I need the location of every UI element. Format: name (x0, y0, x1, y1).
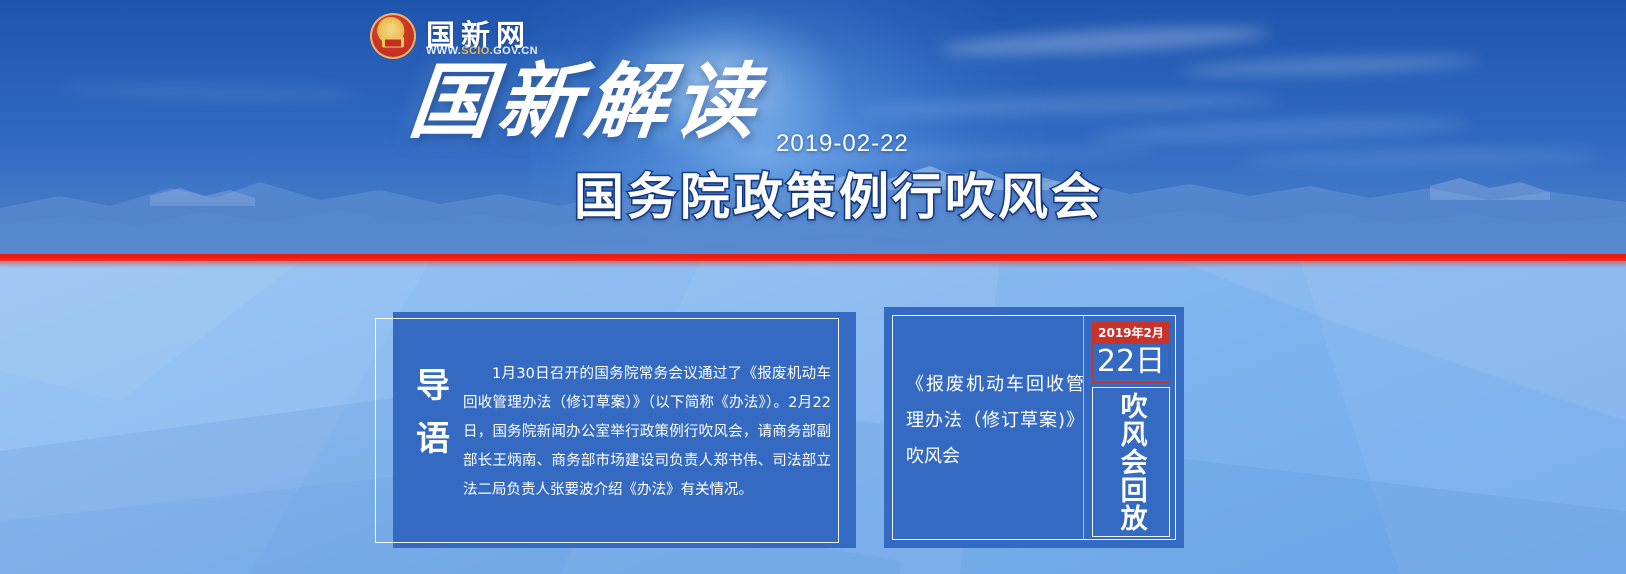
header-banner: ★ 国新网 WWW.SCIO.GOV.CN 国新解读 2019-02-22 国务… (0, 0, 1626, 256)
national-emblem-icon: ★ (370, 13, 416, 59)
star-glyph: ★ (387, 18, 399, 31)
cloud-wisp (60, 81, 360, 102)
cloud-wisp (1240, 147, 1600, 169)
replay-button[interactable]: 吹风会回放 (1092, 387, 1170, 537)
intro-label: 导 语 (407, 360, 459, 465)
cloud-wisp (700, 144, 1160, 166)
date-badge: 2019年2月 22日 吹风会回放 (1092, 322, 1170, 537)
cloud-wisp (940, 21, 1271, 60)
intro-panel: 导 语 1月30日召开的国务院常务会议通过了《报废机动车回收管理办法（修订草案）… (393, 312, 856, 548)
intro-body-text: 1月30日召开的国务院常务会议通过了《报废机动车回收管理办法（修订草案）》（以下… (463, 360, 831, 505)
date-badge-day: 22日 (1092, 344, 1170, 383)
header-subtitle: 国务院政策例行吹风会 (574, 172, 1104, 222)
date-badge-month: 2019年2月 (1092, 322, 1170, 344)
page-root: ★ 国新网 WWW.SCIO.GOV.CN 国新解读 2019-02-22 国务… (0, 0, 1626, 574)
tiananmen-glyph (382, 36, 404, 47)
cloud-wisp (860, 91, 1280, 120)
cloud-wisp (1180, 53, 1480, 79)
cloud-wisp (1090, 113, 1470, 146)
topic-panel[interactable]: 《报废机动车回收管理办法（修订草案)》吹风会 2019年2月 22日 吹风会回放 (884, 307, 1184, 548)
intro-label-char-2: 语 (407, 413, 459, 466)
header-date: 2019-02-22 (776, 130, 909, 158)
intro-label-char-1: 导 (407, 360, 459, 413)
replay-label: 吹风会回放 (1116, 392, 1145, 532)
red-separator-bar (0, 254, 1626, 261)
topic-title: 《报废机动车回收管理办法（修订草案)》吹风会 (906, 367, 1084, 475)
calligraphy-title: 国新解读 (406, 62, 767, 144)
red-separator-glow (0, 261, 1626, 268)
